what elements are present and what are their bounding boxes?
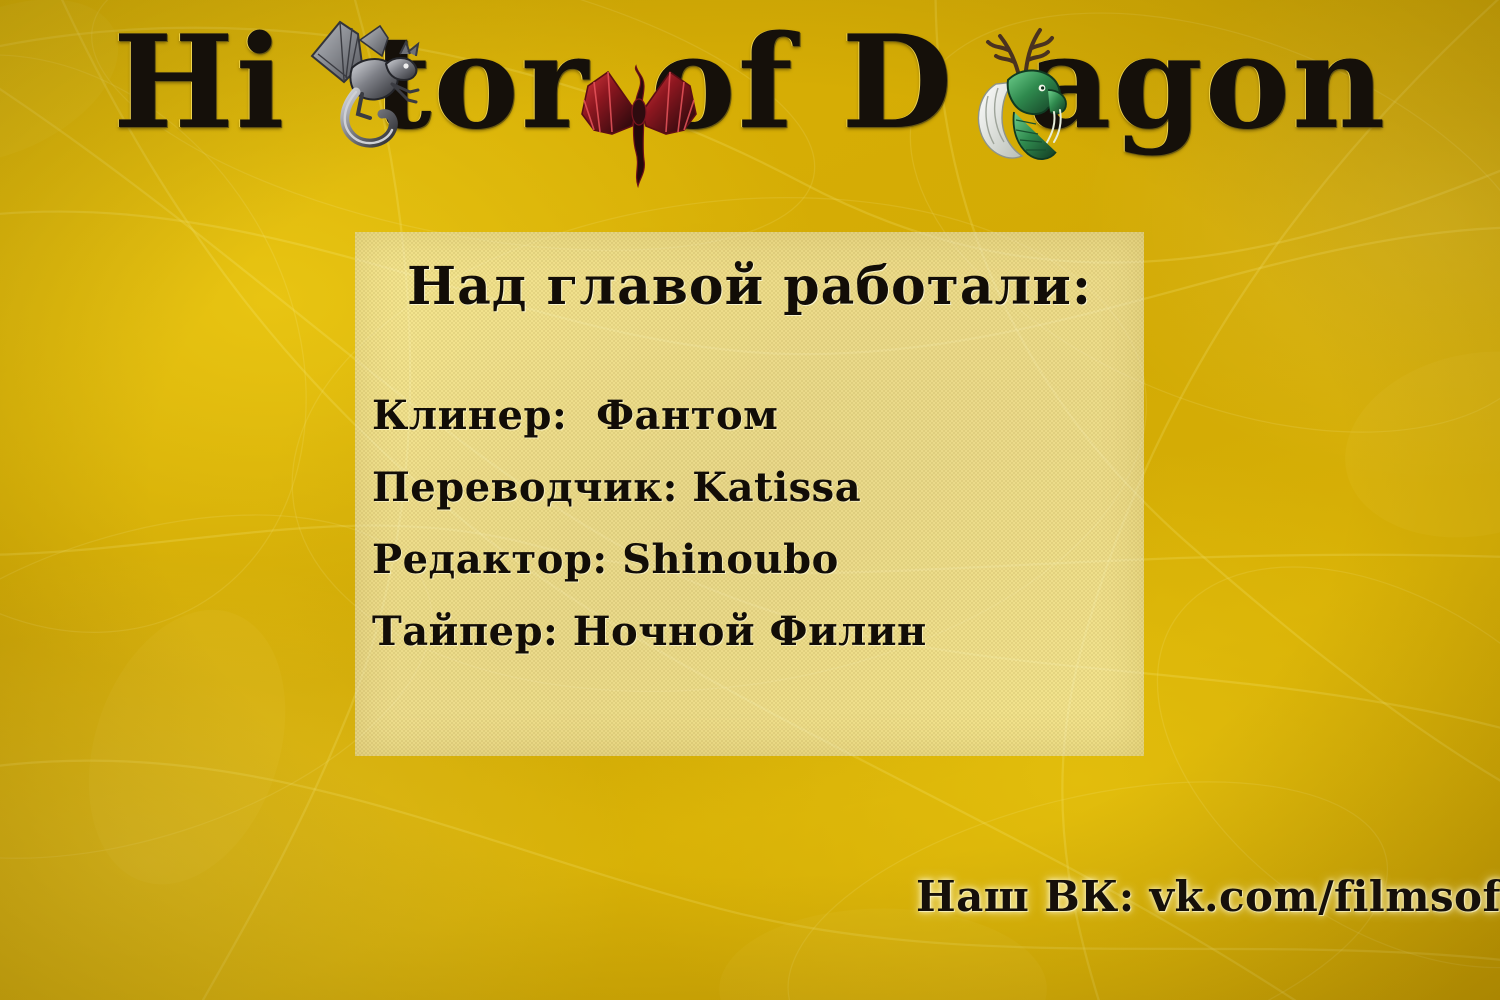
credit-row-translator: Переводчик: Katissa: [372, 452, 1124, 524]
scanlation-credits-page: Hitorof Dagon: [0, 0, 1500, 1000]
title-part-1: Hi: [113, 8, 287, 158]
credits-panel: Над главой работали: Клинер: Фантом Пере…: [355, 232, 1144, 756]
title-part-3: of D: [650, 8, 954, 158]
credit-row-cleaner: Клинер: Фантом: [372, 380, 1124, 452]
credit-row-editor: Редактор: Shinoubo: [372, 524, 1124, 596]
credits-heading: Над главой работали:: [355, 256, 1144, 318]
title-part-2: tor: [372, 8, 590, 158]
credits-list: Клинер: Фантом Переводчик: Katissa Редак…: [372, 380, 1124, 668]
manga-title-banner: Hitorof Dagon: [0, 8, 1500, 178]
title-part-4: agon: [1028, 8, 1387, 158]
credit-row-typesetter: Тайпер: Ночной Филин: [372, 596, 1124, 668]
vk-link[interactable]: Наш ВК: vk.com/filmsofdragons: [916, 870, 1500, 924]
page-title: Hitorof Dagon: [0, 8, 1500, 158]
